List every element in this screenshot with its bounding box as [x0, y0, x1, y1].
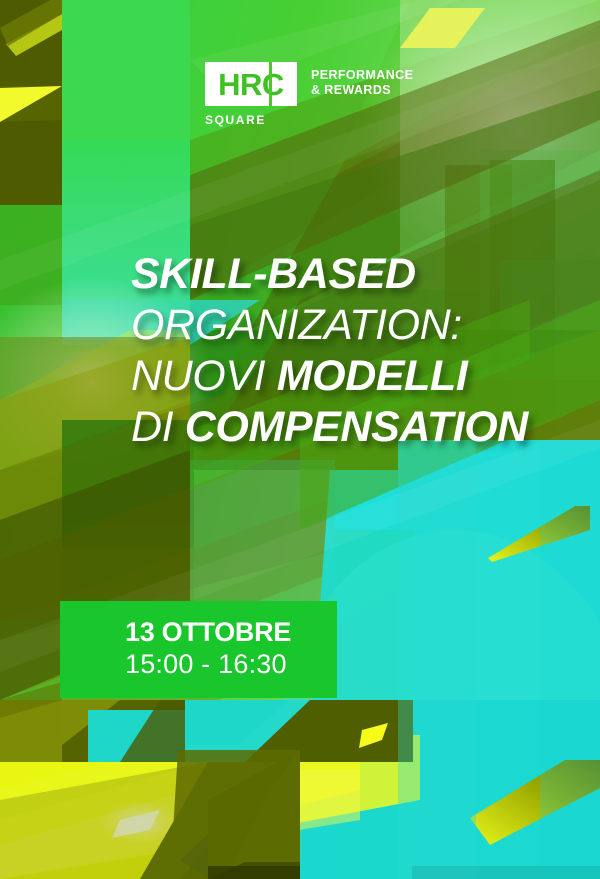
brand-logo: HRC SQUARE PERFORMANCE & REWARDS: [205, 62, 413, 126]
event-date: 13 OTTOBRE: [125, 618, 291, 647]
logo-tagline: PERFORMANCE & REWARDS: [311, 68, 413, 99]
event-time: 15:00 - 16:30: [125, 649, 291, 680]
headline-line-4-bold: COMPENSATION: [185, 403, 528, 451]
event-poster: HRC SQUARE PERFORMANCE & REWARDS SKILL-B…: [0, 0, 600, 879]
headline-line-3: NUOVI MODELLI: [131, 351, 528, 402]
hrc-logo-text: HRC: [218, 69, 284, 100]
schedule-box: 13 OTTOBRE 15:00 - 16:30: [60, 601, 337, 698]
headline-line-4: DI COMPENSATION: [131, 402, 528, 453]
logo-subtext-square: SQUARE: [205, 114, 266, 126]
schedule-text: 13 OTTOBRE 15:00 - 16:30: [125, 618, 291, 680]
headline-line-1: SKILL-BASED: [131, 249, 528, 300]
hrc-logo-mark: HRC: [205, 62, 297, 106]
logo-divider-line: [269, 62, 272, 106]
headline-line-2: ORGANIZATION:: [131, 300, 528, 351]
logo-primary: HRC SQUARE: [205, 62, 297, 126]
poster-headline: SKILL-BASED ORGANIZATION: NUOVI MODELLI …: [131, 249, 528, 453]
tagline-line-1: PERFORMANCE: [311, 68, 413, 83]
tagline-line-2: & REWARDS: [311, 83, 413, 98]
headline-line-3-light: NUOVI: [131, 352, 277, 400]
headline-line-3-bold: MODELLI: [277, 352, 468, 400]
headline-line-4-light: DI: [131, 403, 185, 451]
